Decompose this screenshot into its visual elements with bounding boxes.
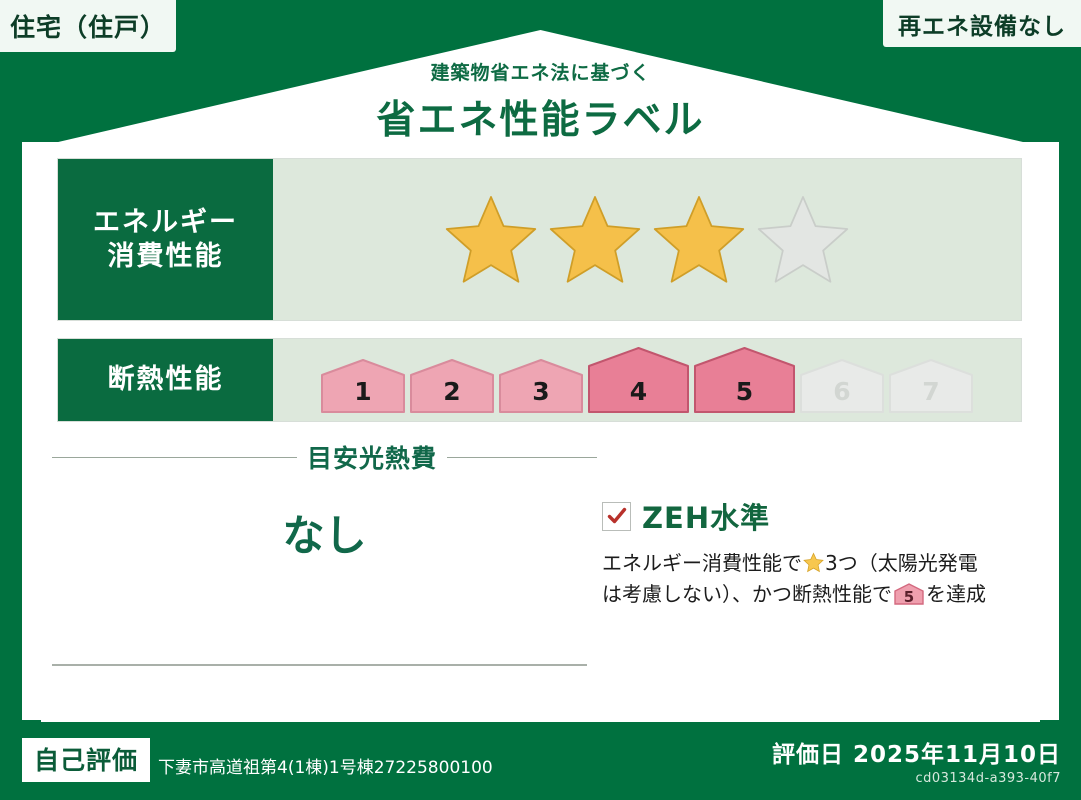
footer-left: 自己評価 下妻市高道祖第4(1棟)1号棟27225800100 [22, 738, 493, 782]
zeh-description: エネルギー消費性能で3つ（太陽光発電 は考慮しない）、かつ断熱性能で5を達成 [602, 548, 1052, 610]
insulation-label-line1: 断熱性能 [108, 363, 224, 397]
house-icon-filled [587, 346, 690, 414]
utility-cost-heading: 目安光熱費 [52, 439, 597, 475]
label-content-card: エネルギー 消費性能 断熱性能 1234567 目安光熱費 なし [22, 142, 1059, 720]
self-evaluation-badge: 自己評価 [22, 738, 150, 782]
energy-label-line1: エネルギー [93, 206, 238, 240]
insulation-grade-step: 3 [498, 358, 584, 414]
zeh-grade-badge: 5 [894, 583, 924, 605]
zeh-standard-panel: ZEH水準 エネルギー消費性能で3つ（太陽光発電 は考慮しない）、かつ断熱性能で… [602, 495, 1052, 610]
house-icon-filled [409, 358, 495, 414]
building-type-tag: 住宅（住戸） [0, 0, 176, 52]
footer-right: 評価日 2025年11月10日 cd03134d-a393-40f7 [772, 735, 1061, 786]
star-icon-filled [442, 193, 540, 287]
energy-performance-row-label: エネルギー 消費性能 [58, 159, 273, 320]
star-icon-filled [650, 193, 748, 287]
house-icon-empty [888, 358, 974, 414]
energy-performance-row-body [273, 159, 1021, 320]
insulation-grade-step: 1 [320, 358, 406, 414]
zeh-checkbox [602, 502, 631, 531]
zeh-desc-part2: は考慮しない）、かつ断熱性能で [602, 582, 892, 606]
insulation-performance-row-body: 1234567 [273, 339, 1021, 421]
label-title-block: 建築物省エネ法に基づく 省エネ性能ラベル [0, 58, 1081, 145]
insulation-performance-row: 断熱性能 1234567 [57, 338, 1022, 422]
energy-performance-label: 住宅（住戸） 再エネ設備なし 建築物省エネ法に基づく 省エネ性能ラベル エネルギ… [0, 0, 1081, 800]
label-subtitle: 建築物省エネ法に基づく [0, 58, 1081, 85]
insulation-grade-step: 6 [799, 358, 885, 414]
utility-cost-divider [52, 664, 587, 666]
star-icon-empty [754, 193, 852, 287]
label-title: 省エネ性能ラベル [0, 89, 1081, 145]
utility-cost-value: なし [52, 502, 597, 563]
check-icon [606, 505, 628, 527]
energy-performance-row: エネルギー 消費性能 [57, 158, 1022, 321]
zeh-desc-part3: を達成 [926, 582, 986, 606]
house-icon-filled [498, 358, 584, 414]
star-rating [442, 193, 852, 287]
house-icon-empty [799, 358, 885, 414]
utility-cost-heading-text: 目安光熱費 [307, 439, 437, 475]
property-identifier: 下妻市高道祖第4(1棟)1号棟27225800100 [158, 753, 493, 782]
house-icon-filled [320, 358, 406, 414]
insulation-performance-row-label: 断熱性能 [58, 339, 273, 421]
house-icon-filled [693, 346, 796, 414]
evaluation-date: 評価日 2025年11月10日 [772, 735, 1061, 769]
insulation-grade-step: 7 [888, 358, 974, 414]
insulation-grade-step: 4 [587, 346, 690, 414]
zeh-title-row: ZEH水準 [602, 495, 1052, 537]
star-icon [803, 552, 824, 573]
label-footer: 自己評価 下妻市高道祖第4(1棟)1号棟27225800100 評価日 2025… [0, 720, 1081, 800]
star-icon-filled [546, 193, 644, 287]
zeh-desc-part1: エネルギー消費性能で [602, 551, 802, 575]
renewable-equipment-tag: 再エネ設備なし [883, 0, 1081, 47]
zeh-title: ZEH水準 [642, 495, 770, 537]
insulation-grade-step: 2 [409, 358, 495, 414]
zeh-desc-count: 3つ（太陽光発電 [825, 551, 978, 575]
insulation-grade-scale: 1234567 [320, 346, 974, 414]
document-code: cd03134d-a393-40f7 [772, 771, 1061, 786]
heading-rule-right [447, 457, 597, 458]
insulation-grade-step: 5 [693, 346, 796, 414]
energy-label-line2: 消費性能 [108, 240, 224, 274]
heading-rule-left [52, 457, 297, 458]
zeh-grade-badge-value: 5 [894, 586, 924, 609]
